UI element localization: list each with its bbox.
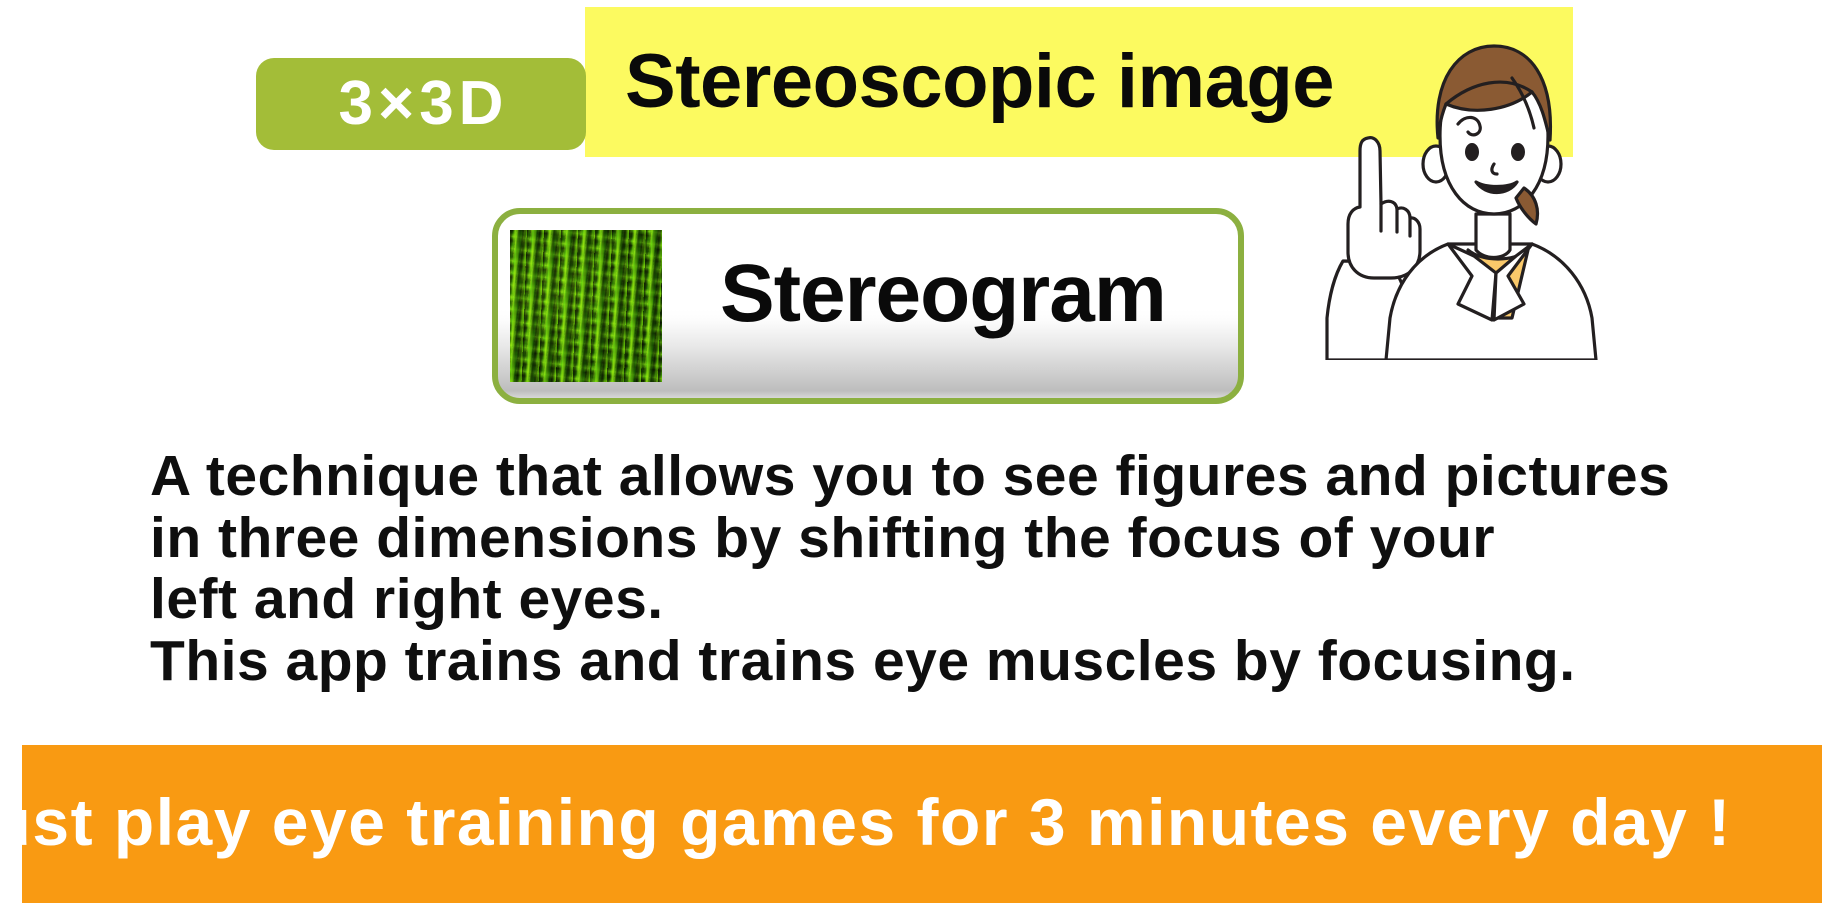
description-line-1: A technique that allows you to see figur… (150, 446, 1570, 508)
badge-3x3d: 3×3D (256, 58, 586, 150)
cta-banner-text: Just play eye training games for 3 minut… (0, 789, 1843, 855)
stereogram-button[interactable]: Stereogram (492, 208, 1244, 404)
stereogram-button-label: Stereogram (720, 253, 1166, 335)
woman-pointing-up-illustration (1296, 18, 1648, 360)
promo-banner-stage: Stereoscopic image 3×3D Stereogram (0, 0, 1843, 900)
description-text: A technique that allows you to see figur… (150, 446, 1570, 692)
stereogram-pattern-thumbnail-icon (510, 230, 662, 382)
description-line-2: in three dimensions by shifting the focu… (150, 508, 1570, 570)
cta-banner: Just play eye training games for 3 minut… (22, 745, 1822, 903)
description-line-3: left and right eyes. (150, 569, 1570, 631)
badge-3x3d-label: 3×3D (334, 73, 509, 135)
description-line-4: This app trains and trains eye muscles b… (150, 631, 1570, 693)
page-title: Stereoscopic image (625, 44, 1334, 120)
